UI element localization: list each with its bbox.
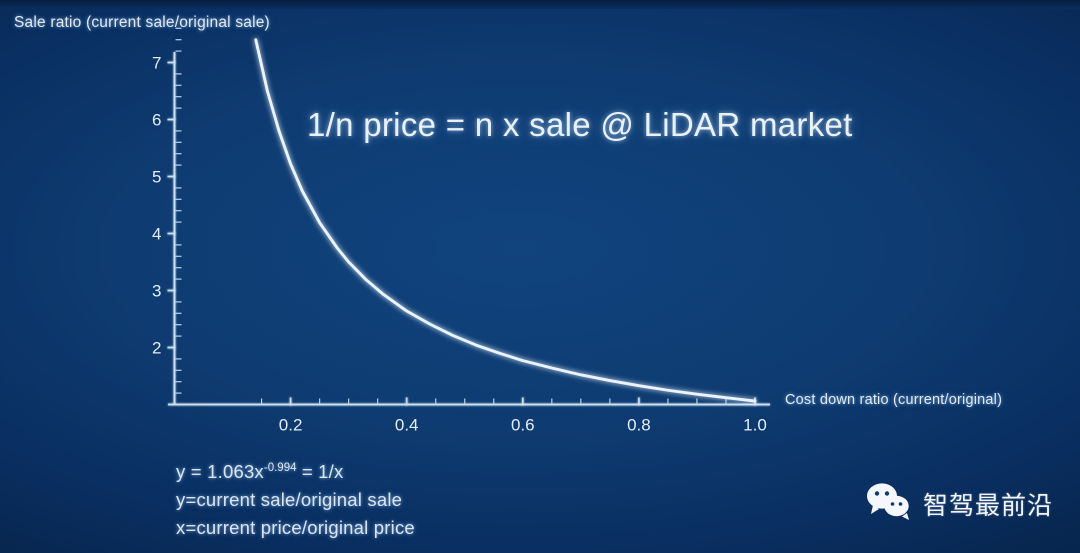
y-tick-labels: 234567: [152, 54, 161, 358]
y-definition-note: y=current sale/original sale: [176, 489, 402, 511]
x-definition-note: x=current price/original price: [176, 517, 415, 539]
fit-equation-annotation: y = 1.063x-0.994 = 1/x: [176, 461, 343, 483]
axis-lines: [168, 52, 770, 405]
x-tick-label: 0.6: [511, 416, 535, 435]
x-tick-label: 0.8: [627, 416, 651, 435]
plot-area: 234567 0.20.40.60.81.0: [0, 0, 1080, 553]
y-tick-label: 2: [152, 339, 161, 358]
fit-equation-exponent: -0.994: [264, 462, 297, 474]
y-tick-label: 4: [152, 225, 161, 244]
chart-canvas: Sale ratio (current sale/original sale) …: [0, 0, 1080, 553]
x-tick-label: 0.2: [279, 416, 303, 435]
y-tick-label: 6: [152, 111, 161, 130]
watermark: 智驾最前沿: [866, 481, 1053, 526]
fit-equation-tail: = 1/x: [297, 461, 344, 482]
x-tick-label: 1.0: [743, 416, 767, 435]
data-curve-series-0: [256, 40, 755, 401]
watermark-text: 智驾最前沿: [923, 486, 1053, 522]
wechat-icon: [866, 481, 912, 526]
y-tick-label: 7: [152, 54, 161, 73]
x-tick-labels: 0.20.40.60.81.0: [279, 416, 767, 435]
x-tick-label: 0.4: [395, 416, 419, 435]
y-tick-label: 3: [152, 282, 161, 301]
y-minor-tick-marks: [176, 28, 182, 393]
fit-equation-base: y = 1.063x: [176, 461, 264, 482]
y-tick-label: 5: [152, 168, 161, 187]
